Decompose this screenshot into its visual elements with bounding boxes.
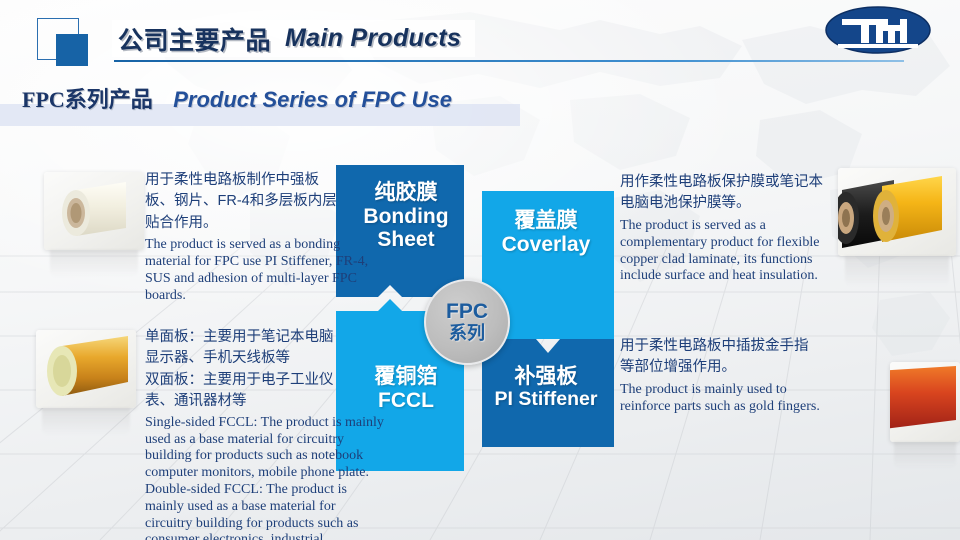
photo-bonding-sheet-roll	[44, 172, 144, 250]
panel-coverlay-en: The product is served as a complementary…	[620, 218, 835, 285]
panel-coverlay: 用作柔性电路板保护膜或笔记本电脑电池保护膜等。 The product is s…	[620, 172, 835, 285]
panel-bonding-sheet-cn: 用于柔性电路板制作中强板板、钢片、FR-4和多层板内层贴合作用。	[145, 170, 341, 234]
panel-fccl-cn: 单面板：主要用于笔记本电脑显示器、手机天线板等 双面板：主要用于电子工业仪表、通…	[145, 327, 345, 413]
photo-coverlay-rolls	[838, 168, 956, 256]
panel-pi-stiffener: 用于柔性电路板中插拔金手指等部位增强作用。 The product is mai…	[620, 336, 820, 416]
section-subtitle-en: Product Series of FPC Use	[173, 87, 452, 112]
photo-pi-stiffener-roll	[890, 362, 960, 442]
section-subtitle: FPC系列产品 Product Series of FPC Use	[22, 82, 452, 114]
panel-coverlay-cn: 用作柔性电路板保护膜或笔记本电脑电池保护膜等。	[620, 172, 835, 215]
center-badge-line2: 系列	[449, 323, 485, 344]
panel-bonding-sheet-en: The product is served as a bonding mater…	[145, 237, 380, 304]
diagram-center-badge: FPC 系列	[424, 279, 510, 365]
header-square-filled-icon	[56, 34, 88, 66]
header-divider	[114, 60, 904, 62]
page-title-cn: 公司主要产品	[118, 21, 271, 57]
panel-pi-stiffener-en: The product is mainly used to reinforce …	[620, 382, 820, 416]
slide-canvas: 公司主要产品 Main Products TM FPC系列产品 Product …	[0, 0, 960, 540]
quadrant-bottom-right-shape[interactable]	[482, 339, 614, 447]
panel-fccl-en: Single-sided FCCL: The product is mainly…	[145, 415, 385, 540]
photo-fccl-roll	[36, 330, 136, 408]
page-title-en: Main Products	[285, 24, 461, 53]
panel-fccl: 单面板：主要用于笔记本电脑显示器、手机天线板等 双面板：主要用于电子工业仪表、通…	[145, 327, 345, 540]
panel-pi-stiffener-cn: 用于柔性电路板中插拔金手指等部位增强作用。	[620, 336, 820, 379]
center-badge-line1: FPC	[446, 301, 488, 323]
page-title: 公司主要产品 Main Products	[112, 20, 475, 57]
company-logo: TM	[818, 5, 938, 57]
panel-bonding-sheet: 用于柔性电路板制作中强板板、钢片、FR-4和多层板内层贴合作用。 The pro…	[145, 170, 341, 305]
section-subtitle-cn: FPC系列产品	[22, 87, 153, 112]
